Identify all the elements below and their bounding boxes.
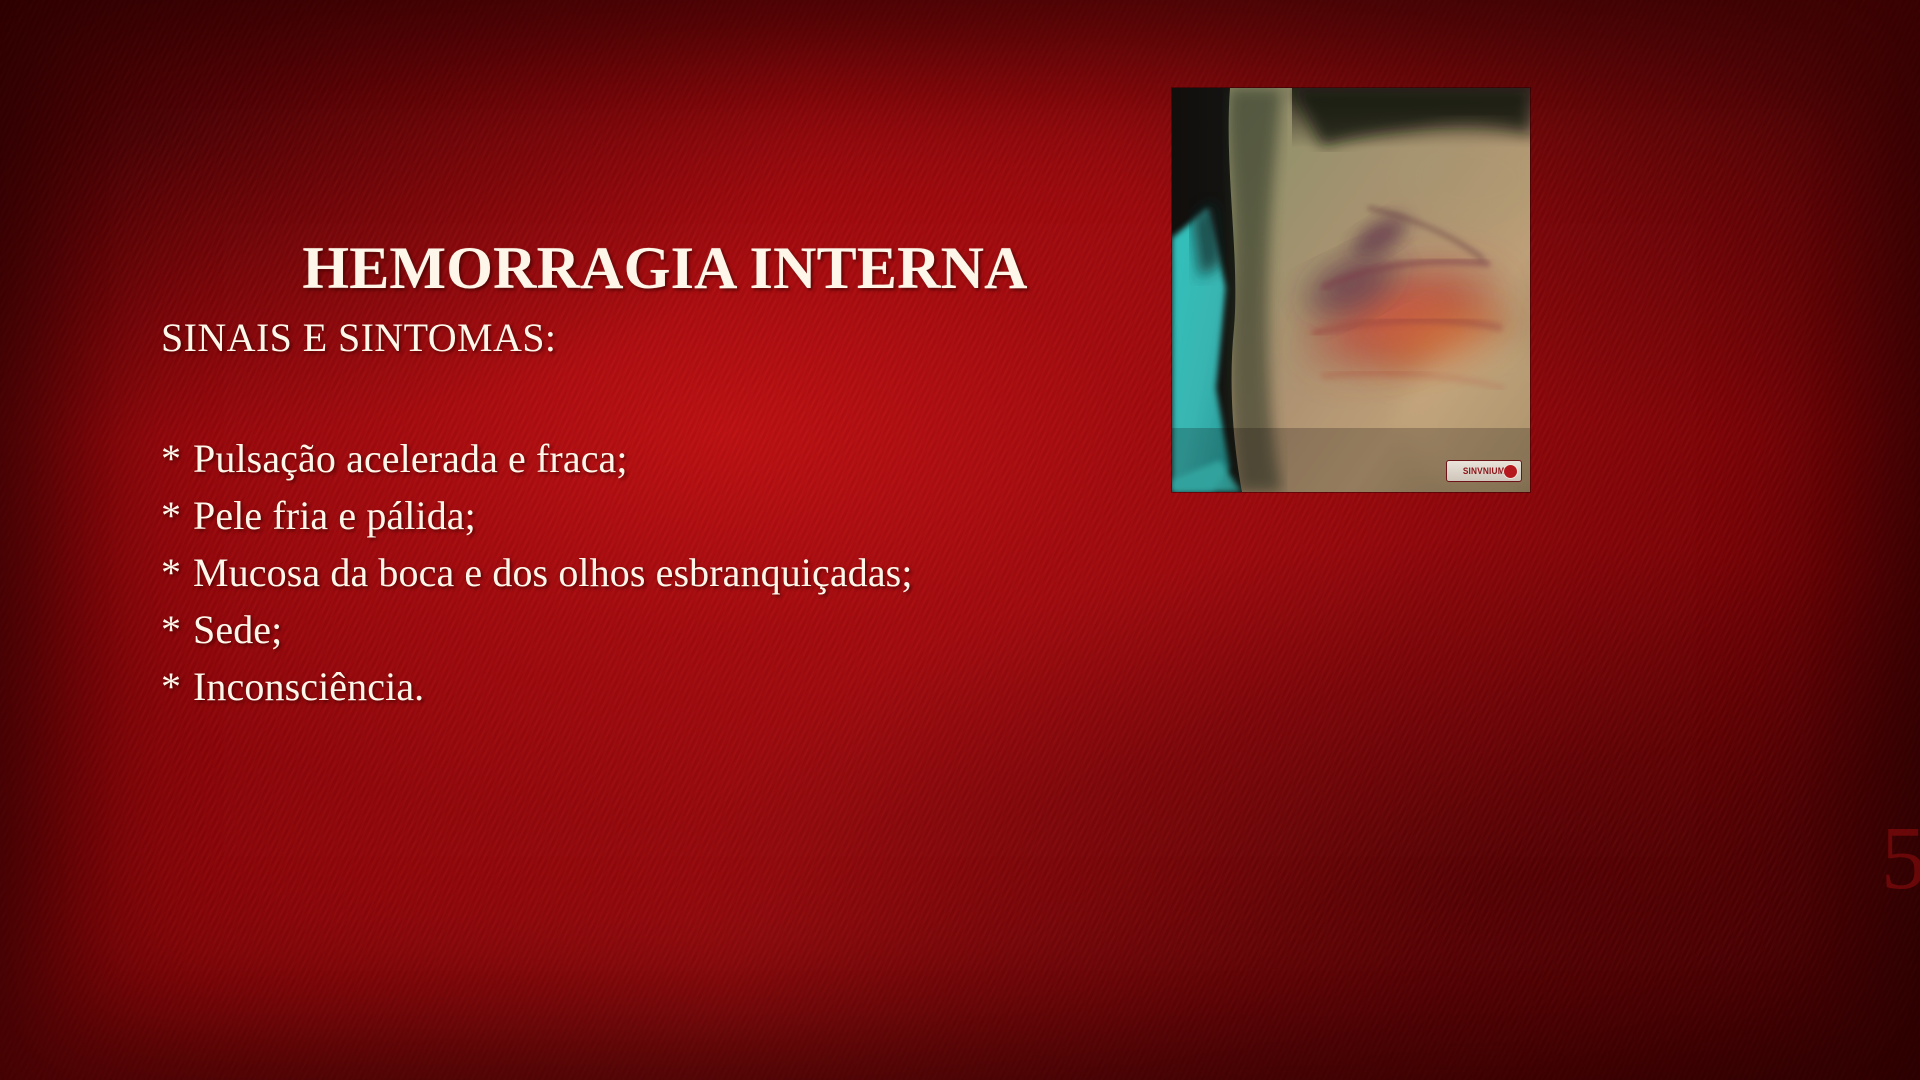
list-item-label: Sede; [193, 607, 282, 652]
watermark-text: SINVNIUM [1463, 467, 1505, 476]
blank-line [161, 374, 1181, 430]
section-heading: SINAIS E SINTOMAS: [161, 318, 1181, 374]
list-item-label: Pele fria e pálida; [193, 493, 476, 538]
list-item: *Inconsciência. [161, 658, 1181, 715]
bullet-marker-icon: * [161, 544, 193, 601]
bullet-marker-icon: * [161, 601, 193, 658]
watermark-dot-icon [1503, 464, 1518, 479]
bullet-marker-icon: * [161, 430, 193, 487]
list-item-label: Inconsciência. [193, 664, 424, 709]
slide-body: SINAIS E SINTOMAS: *Pulsação acelerada e… [161, 318, 1181, 715]
presentation-slide: SINVNIUM HEMORRAGIA INTERNA SINAIS E SIN… [0, 0, 1920, 1080]
medical-photo: SINVNIUM [1172, 88, 1530, 492]
corner-artifact-glyph: 5 [1881, 814, 1920, 904]
list-item: *Pulsação acelerada e fraca; [161, 430, 1181, 487]
medical-photo-image [1172, 88, 1530, 492]
list-item: *Pele fria e pálida; [161, 487, 1181, 544]
list-item: *Mucosa da boca e dos olhos esbranquiçad… [161, 544, 1181, 601]
list-item-label: Pulsação acelerada e fraca; [193, 436, 628, 481]
page-title: HEMORRAGIA INTERNA [160, 236, 1170, 301]
list-item-label: Mucosa da boca e dos olhos esbranquiçada… [193, 550, 913, 595]
bullet-marker-icon: * [161, 487, 193, 544]
bullet-marker-icon: * [161, 658, 193, 715]
list-item: *Sede; [161, 601, 1181, 658]
symptoms-list: *Pulsação acelerada e fraca; *Pele fria … [161, 430, 1181, 715]
photo-watermark: SINVNIUM [1446, 460, 1522, 482]
